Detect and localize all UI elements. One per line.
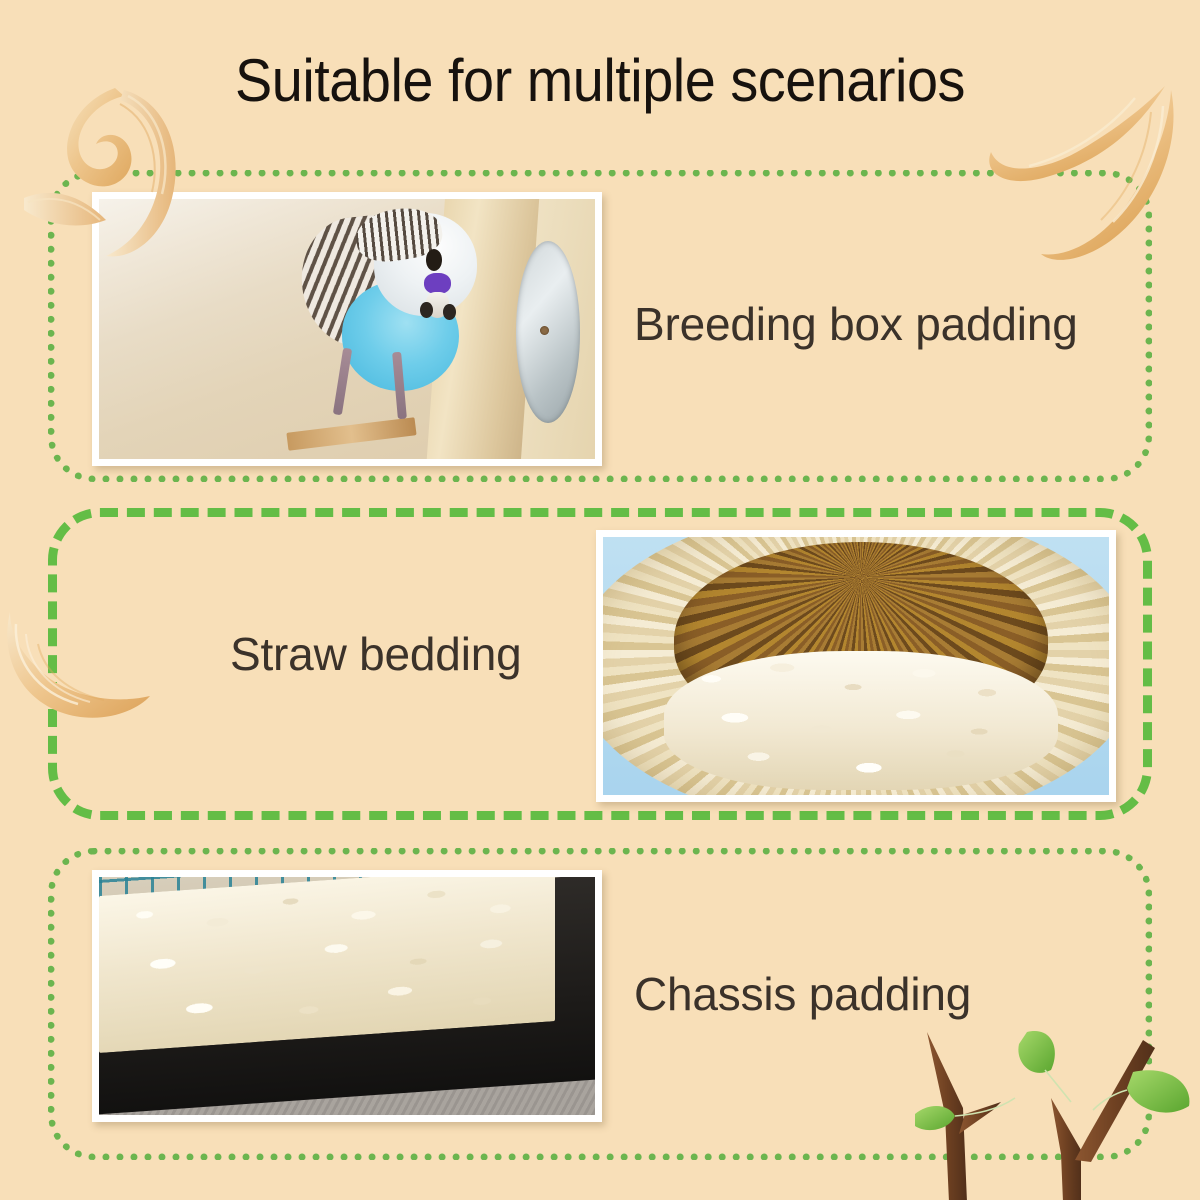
scenario-image-chassis-padding: Black cage bottom tray filled with wood … [92,870,602,1122]
scenario-label-breeding-box-padding: Breeding box padding [634,297,1078,351]
page-title: Suitable for multiple scenarios [42,46,1158,115]
scenario-label-chassis-padding: Chassis padding [634,967,971,1021]
budgerigar-bird [302,209,481,407]
breeding-box-opening [516,241,580,423]
scenario-image-alt-1: Blue budgerigar parakeet standing on woo… [99,459,100,460]
bird-cheek-spot [443,304,455,320]
scenario-image-alt-2: Woven straw nest filled with white wood … [603,795,604,796]
bird-cere [424,273,451,295]
bird-eye [426,249,442,271]
scenario-image-breeding-box-padding: Blue budgerigar parakeet standing on woo… [92,192,602,466]
scenario-label-straw-bedding: Straw bedding [230,627,521,681]
bird-cheek-spot [420,302,432,318]
scenario-image-straw-bedding: Woven straw nest filled with white wood … [596,530,1116,802]
infographic-page: Suitable for multiple scenarios [0,0,1200,1200]
bird-leg [333,347,352,415]
wood-shavings-fill [664,651,1059,790]
scenario-image-alt-3: Black cage bottom tray filled with wood … [99,1115,100,1116]
